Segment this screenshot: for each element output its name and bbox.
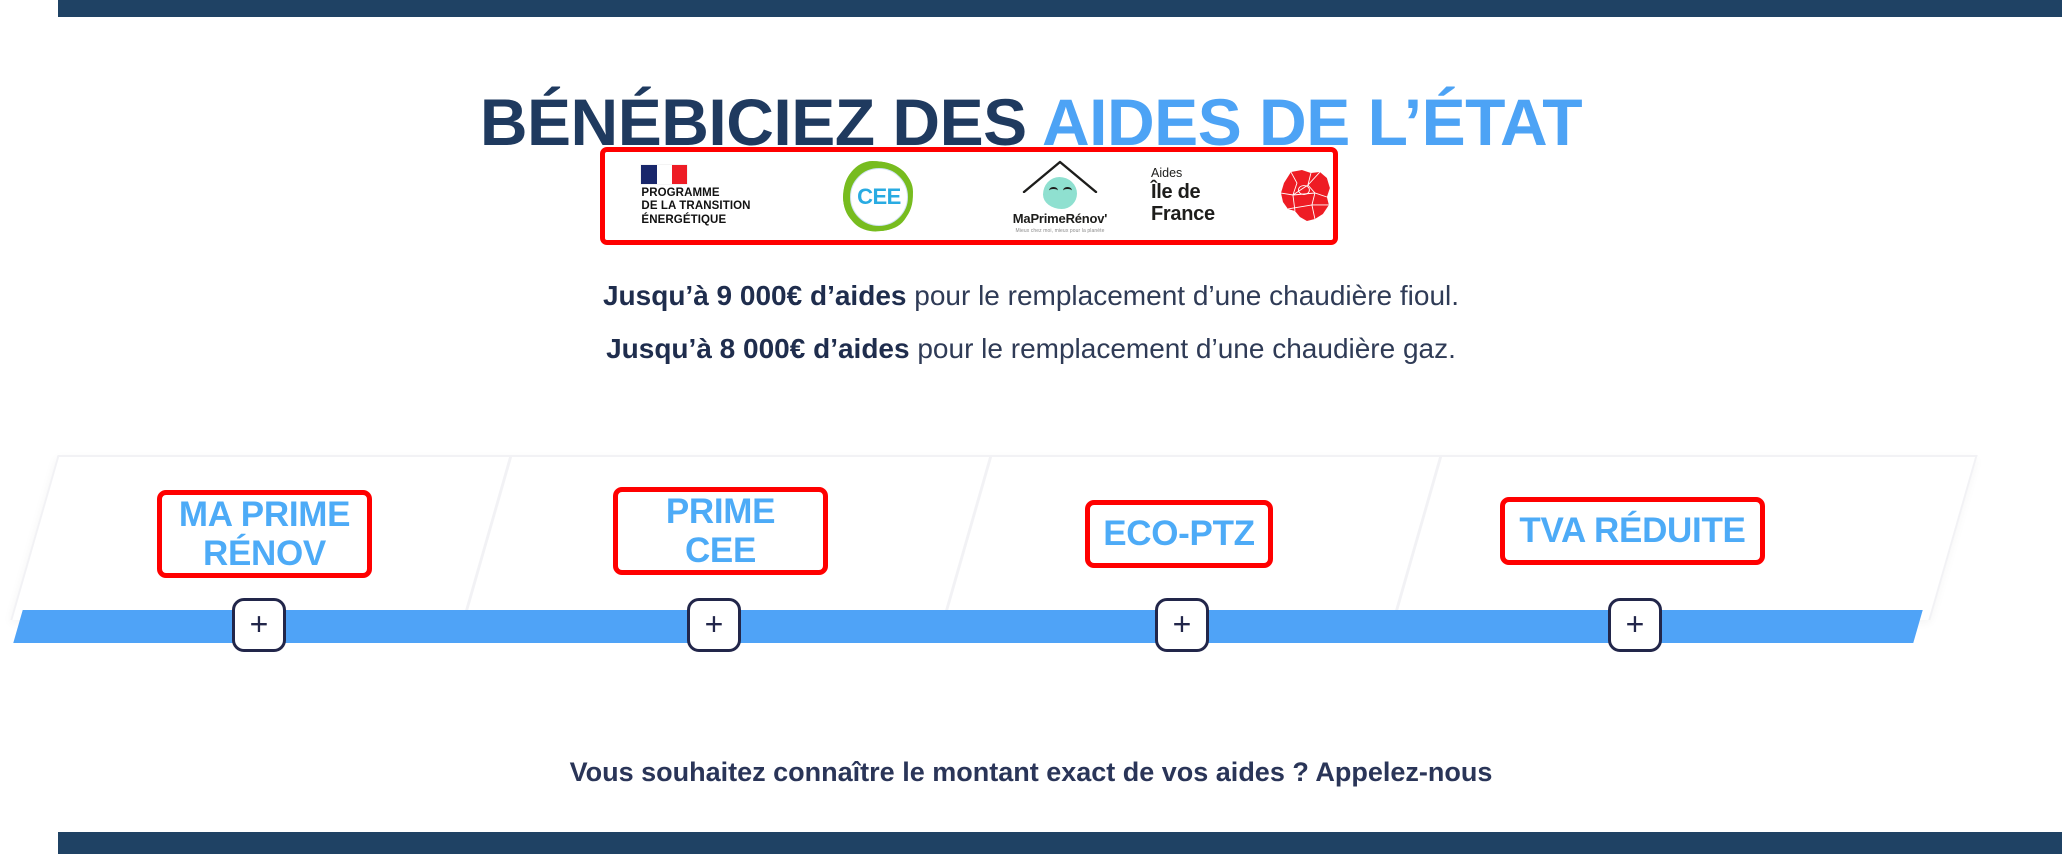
bottom-accent-bar bbox=[58, 832, 2062, 854]
logo-programme-transition-energetique: PROGRAMME DE LA TRANSITION ÉNERGÉTIQUE bbox=[605, 152, 787, 240]
cee-label: CEE bbox=[857, 184, 901, 210]
aid-card-line-1: MA PRIME bbox=[179, 495, 350, 534]
plus-icon: + bbox=[250, 608, 269, 640]
plus-icon: + bbox=[1626, 608, 1645, 640]
aid-amount-line: Jusqu’à 8 000€ d’aides pour le remplacem… bbox=[0, 335, 2062, 363]
maprimerenov-tagline: Mieux chez moi, mieux pour la planète bbox=[1015, 228, 1104, 234]
pte-line-1: PROGRAMME bbox=[641, 187, 750, 201]
logo-aides-ile-de-france: Aides Île de France bbox=[1151, 152, 1333, 240]
expand-button-eco-ptz[interactable]: + bbox=[1155, 598, 1209, 652]
plus-icon: + bbox=[1173, 608, 1192, 640]
ile-de-france-map-icon bbox=[1275, 169, 1333, 223]
aid-amount-bold: Jusqu’à 8 000€ d’aides bbox=[606, 333, 910, 364]
top-accent-bar bbox=[58, 0, 2062, 17]
aid-card-line-2: RÉNOV bbox=[203, 534, 326, 573]
logo-maprimerenov: MaPrimeRénov' Mieux chez moi, mieux pour… bbox=[969, 152, 1151, 240]
idf-line-1: Aides bbox=[1151, 167, 1182, 181]
aid-card-line-2: CEE bbox=[685, 531, 756, 570]
contact-prompt: Vous souhaitez connaître le montant exac… bbox=[0, 757, 2062, 788]
expand-button-tva-reduite[interactable]: + bbox=[1608, 598, 1662, 652]
maprimerenov-label: MaPrimeRénov' bbox=[1013, 211, 1107, 226]
aid-card-eco-ptz[interactable]: ECO-PTZ bbox=[1085, 500, 1273, 568]
aid-card-line-1: ECO-PTZ bbox=[1103, 514, 1255, 553]
plus-icon: + bbox=[705, 608, 724, 640]
panel-divider bbox=[942, 457, 992, 622]
house-smiley-icon bbox=[1021, 159, 1099, 209]
aid-amount-bold: Jusqu’à 9 000€ d’aides bbox=[603, 280, 907, 311]
pte-line-2: DE LA TRANSITION bbox=[641, 200, 750, 214]
logo-cee: CEE bbox=[787, 152, 969, 240]
aid-amount-rest: pour le remplacement d’une chaudière fio… bbox=[906, 280, 1459, 311]
expand-button-ma-prime-renov[interactable]: + bbox=[232, 598, 286, 652]
aid-amount-line: Jusqu’à 9 000€ d’aides pour le remplacem… bbox=[0, 282, 2062, 310]
idf-line-2: Île de France bbox=[1151, 181, 1269, 225]
french-flag-icon bbox=[641, 165, 687, 184]
aid-card-line-1: PRIME bbox=[666, 492, 775, 531]
page-root: BÉNÉBICIEZ DES AIDES DE L’ÉTAT PROGRAMME… bbox=[0, 0, 2062, 854]
aid-card-prime-cee[interactable]: PRIME CEE bbox=[613, 487, 828, 575]
panel-divider bbox=[462, 457, 512, 622]
expand-button-prime-cee[interactable]: + bbox=[687, 598, 741, 652]
partner-logo-bar: PROGRAMME DE LA TRANSITION ÉNERGÉTIQUE C… bbox=[600, 147, 1338, 245]
aid-amount-list: Jusqu’à 9 000€ d’aides pour le remplacem… bbox=[0, 282, 2062, 388]
pte-line-3: ÉNERGÉTIQUE bbox=[641, 214, 750, 228]
aid-card-tva-reduite[interactable]: TVA RÉDUITE bbox=[1500, 497, 1765, 565]
panel-divider bbox=[1392, 457, 1442, 622]
aid-card-line-1: TVA RÉDUITE bbox=[1519, 511, 1745, 550]
cee-badge-icon: CEE bbox=[843, 161, 913, 231]
aid-amount-rest: pour le remplacement d’une chaudière gaz… bbox=[910, 333, 1456, 364]
aid-card-ma-prime-renov[interactable]: MA PRIME RÉNOV bbox=[157, 490, 372, 578]
